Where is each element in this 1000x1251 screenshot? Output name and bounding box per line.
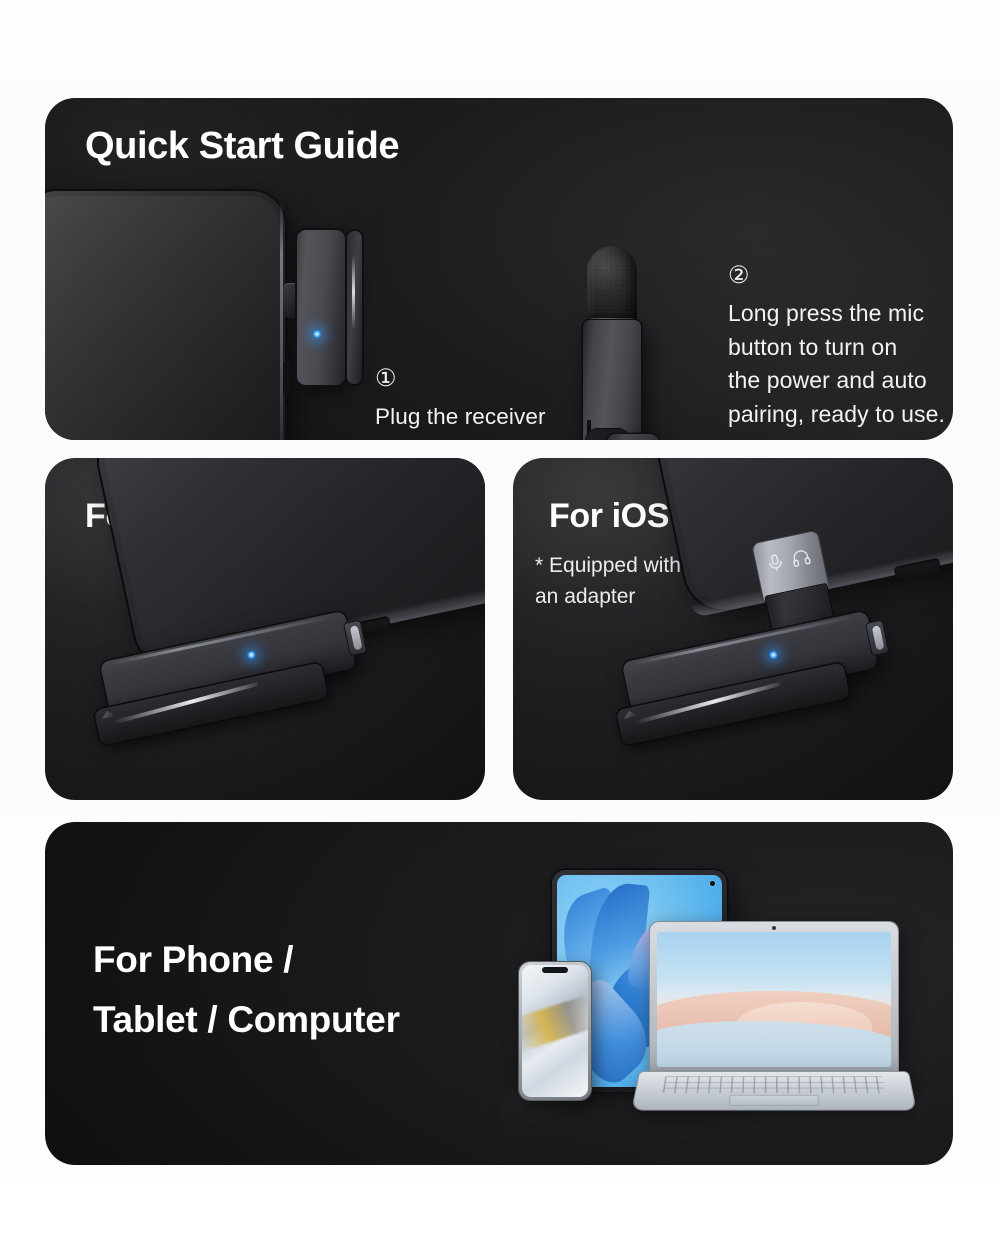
ios-adapter-note: * Equipped with an adapter: [535, 550, 681, 612]
led-indicator: [769, 650, 778, 659]
mic-foam-windscreen: [587, 246, 637, 324]
step-2-number: ②: [728, 263, 953, 289]
device-reflection: [500, 1090, 930, 1150]
led-indicator: [247, 650, 256, 659]
step-1-number: ①: [375, 366, 575, 392]
phone-volume-button: [283, 361, 289, 395]
headphone-icon: [789, 545, 813, 571]
mic-clip-front: [607, 434, 659, 440]
phone-notch: [542, 967, 568, 973]
laptop-lid: [650, 922, 898, 1074]
phone-illustration: [45, 191, 285, 440]
receiver-clip-notch: [100, 709, 115, 719]
step-2-text: Long press the mic button to turn on the…: [728, 300, 945, 427]
step-2-block: ② Long press the mic button to turn on t…: [728, 263, 953, 431]
laptop-camera: [772, 926, 776, 930]
ios-title: For iOS: [549, 496, 669, 536]
phone-screen: [522, 965, 588, 1097]
receiver-clip-highlight: [352, 255, 355, 329]
panel-for-type-c: For Type-C: [45, 458, 485, 800]
receiver-clip: [347, 231, 362, 384]
tablet-camera: [710, 881, 715, 886]
microphone-icon: [763, 550, 787, 576]
mic-body: [583, 320, 641, 440]
laptop-screen: [657, 932, 891, 1067]
panel-for-ios: For iOS * Equipped with an adapter: [513, 458, 953, 800]
step-1-text: Plug the receiver into the phone: [375, 404, 546, 440]
receiver-device: [297, 230, 345, 385]
devices-title: For Phone / Tablet / Computer: [93, 930, 400, 1050]
microphone-device: [583, 246, 641, 440]
step-1-block: ① Plug the receiver into the phone: [375, 366, 575, 440]
receiver-clip-notch: [622, 709, 637, 719]
wallpaper-water: [657, 1021, 891, 1067]
phone-device-illustration: [519, 962, 591, 1100]
led-indicator: [313, 330, 321, 338]
phone-screen: [45, 196, 280, 440]
page-title: Quick Start Guide: [85, 123, 399, 169]
infographic-stage: Quick Start Guide ① Plug the receiver in…: [0, 0, 1000, 1251]
phone-edge-highlight: [280, 201, 283, 440]
panel-quick-start-guide: Quick Start Guide ① Plug the receiver in…: [45, 98, 953, 440]
